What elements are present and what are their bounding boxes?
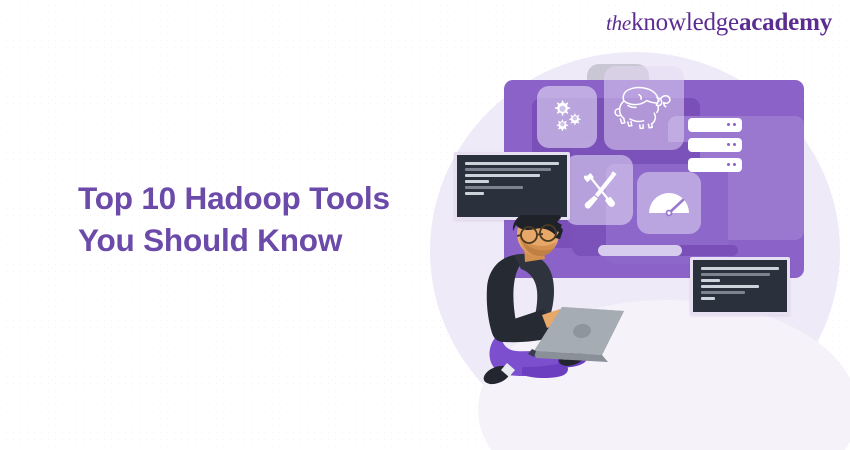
gears-icon [547,97,587,137]
code-line [465,192,484,195]
page-title: Top 10 Hadoop Tools You Should Know [78,178,458,262]
brand-logo[interactable]: theknowledgeacademy [606,10,832,35]
server-rack-row [688,138,742,152]
code-line [465,180,489,183]
code-line [701,291,745,294]
hadoop-elephant-icon [610,79,678,137]
logo-part-the: the [606,11,631,35]
person-illustration [462,215,642,400]
code-line [701,285,759,288]
gauge-icon [647,187,691,219]
hadoop-tools-illustration [420,0,850,450]
code-window-right [690,257,790,315]
code-line [465,168,551,171]
tools-icon [576,167,622,213]
tile-gauge [637,172,701,234]
banner: Top 10 Hadoop Tools You Should Know thek… [0,0,850,450]
code-line [701,279,720,282]
code-line [701,273,770,276]
server-rack-row [688,118,742,132]
developer-with-laptop [462,215,642,400]
code-line [701,267,779,270]
tile-hadoop-elephant [604,66,684,150]
logo-part-knowledge: knowledge [631,9,739,36]
tile-gears [537,86,597,148]
code-line [465,174,540,177]
code-line [465,162,559,165]
server-rack-icon [688,118,742,172]
code-line [701,297,715,300]
code-window-left [454,152,570,220]
code-line [465,186,523,189]
headline-line-2: You Should Know [78,220,458,262]
server-rack-row [688,158,742,172]
headline-line-1: Top 10 Hadoop Tools [78,180,390,216]
logo-part-academy: academy [739,9,832,36]
